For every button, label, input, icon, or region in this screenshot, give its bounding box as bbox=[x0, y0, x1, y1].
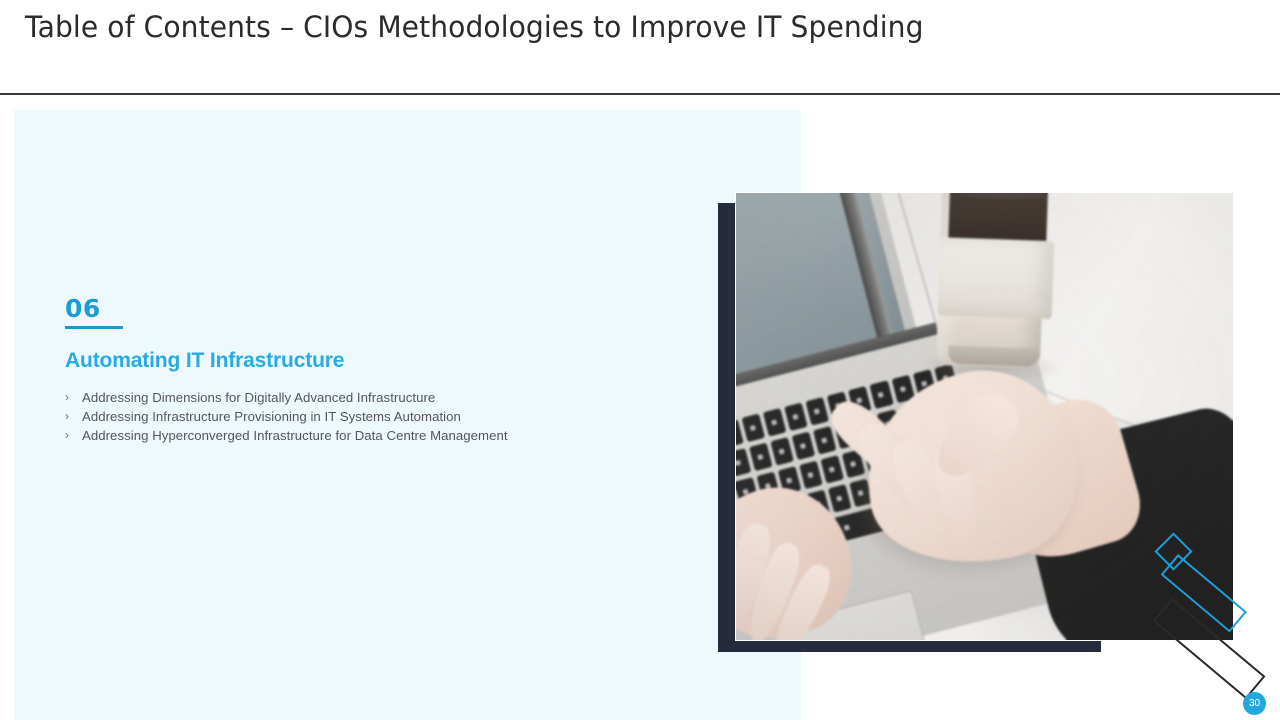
slide-header: Table of Contents – CIOs Methodologies t… bbox=[0, 0, 1280, 94]
keyboard-key bbox=[870, 380, 894, 409]
section-number-underline bbox=[65, 326, 123, 329]
keyboard-key bbox=[813, 426, 837, 455]
cup-sleeve bbox=[938, 237, 1055, 319]
coffee-cup bbox=[931, 193, 1054, 379]
cup-base bbox=[948, 346, 1039, 367]
header-divider-rule bbox=[0, 93, 1280, 95]
keyboard-key bbox=[820, 455, 844, 484]
page-number-badge: 30 bbox=[1243, 692, 1266, 715]
keyboard-key bbox=[741, 414, 765, 443]
section-heading: Automating IT Infrastructure bbox=[65, 349, 685, 372]
section-block: 06 Automating IT Infrastructure › Addres… bbox=[65, 296, 685, 445]
list-item: › Addressing Infrastructure Provisioning… bbox=[65, 407, 685, 426]
list-item-label: Addressing Hyperconverged Infrastructure… bbox=[82, 426, 508, 445]
keyboard-key bbox=[749, 443, 773, 472]
bullet-list: › Addressing Dimensions for Digitally Ad… bbox=[65, 388, 685, 445]
list-item: › Addressing Hyperconverged Infrastructu… bbox=[65, 426, 685, 445]
list-item-label: Addressing Infrastructure Provisioning i… bbox=[82, 407, 461, 426]
list-item: › Addressing Dimensions for Digitally Ad… bbox=[65, 388, 685, 407]
chevron-right-icon: › bbox=[65, 426, 82, 445]
decorative-shapes bbox=[1150, 530, 1280, 680]
keyboard-key bbox=[762, 408, 786, 437]
page-title: Table of Contents – CIOs Methodologies t… bbox=[25, 10, 924, 44]
keyboard-key bbox=[770, 437, 794, 466]
list-item-label: Addressing Dimensions for Digitally Adva… bbox=[82, 388, 435, 407]
section-number: 06 bbox=[65, 296, 685, 321]
keyboard-key bbox=[805, 397, 829, 426]
keyboard-key bbox=[736, 448, 751, 477]
chevron-right-icon: › bbox=[65, 407, 82, 426]
keyboard-key bbox=[791, 432, 815, 461]
keyboard-key bbox=[828, 484, 852, 513]
chevron-right-icon: › bbox=[65, 388, 82, 407]
keyboard-key bbox=[799, 461, 823, 490]
keyboard-key bbox=[784, 403, 808, 432]
cup-glass bbox=[936, 193, 1046, 369]
